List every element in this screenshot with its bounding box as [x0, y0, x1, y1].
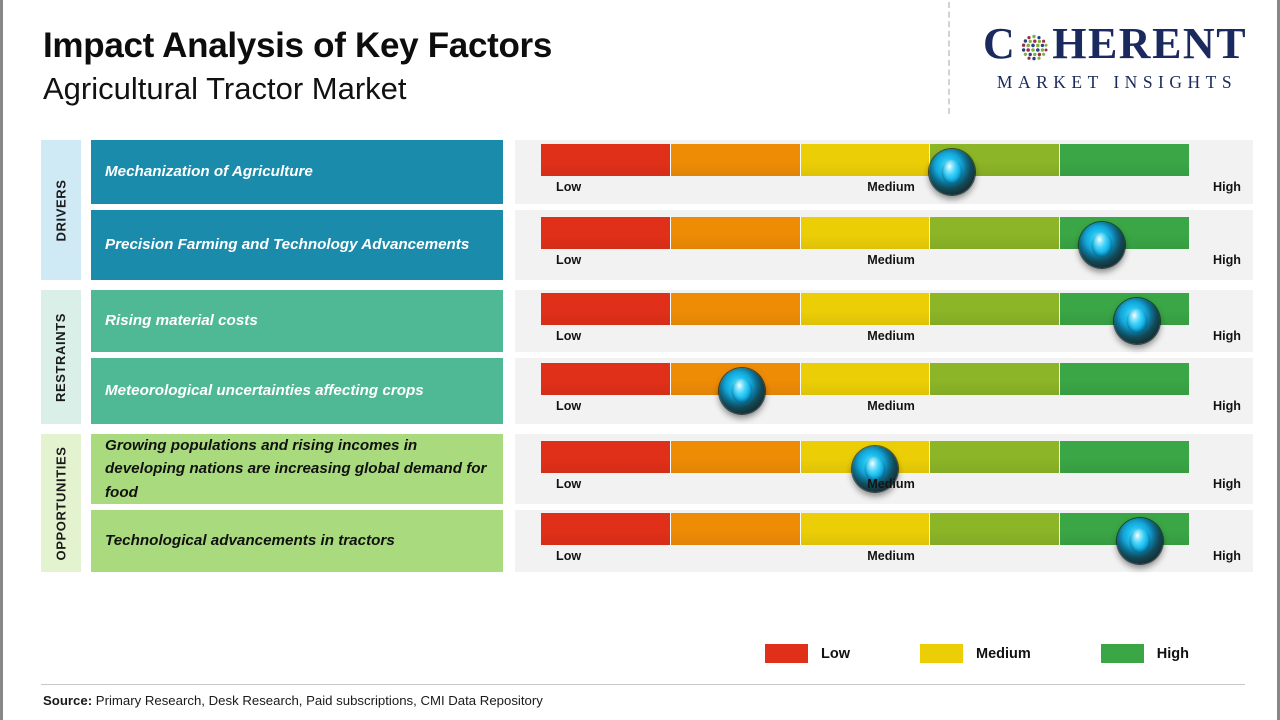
scale-label-medium: Medium — [867, 253, 915, 267]
gauge-segment-4 — [930, 441, 1060, 473]
category-group-drivers: DRIVERSMechanization of AgriculturePreci… — [41, 140, 1253, 280]
legend-swatch — [765, 644, 808, 663]
scale-label-high: High — [1213, 477, 1241, 491]
scale-label-low: Low — [556, 329, 581, 343]
category-group-restraints: RESTRAINTSRising material costsMeteorolo… — [41, 290, 1253, 424]
category-label-restraints: RESTRAINTS — [41, 290, 81, 424]
gauge-segment-3 — [801, 293, 931, 325]
factor-box[interactable]: Precision Farming and Technology Advance… — [91, 210, 503, 280]
category-label-opportunities: OPPORTUNITIES — [41, 434, 81, 572]
scale-label-medium: Medium — [867, 399, 915, 413]
source-text: Primary Research, Desk Research, Paid su… — [92, 693, 543, 708]
scale-label-high: High — [1213, 329, 1241, 343]
scale-label-medium: Medium — [867, 549, 915, 563]
gauge-scale: LowMediumHigh — [541, 399, 1241, 419]
scale-label-high: High — [1213, 549, 1241, 563]
impact-gauge: LowMediumHigh — [515, 434, 1253, 504]
gauge-segment-5 — [1060, 441, 1189, 473]
category-group-opportunities: OPPORTUNITIESGrowing populations and ris… — [41, 434, 1253, 572]
footer-divider — [41, 684, 1245, 685]
gauge-segment-3 — [801, 217, 931, 249]
gauge-scale: LowMediumHigh — [541, 253, 1241, 273]
gauge-scale: LowMediumHigh — [541, 180, 1241, 200]
factor-box[interactable]: Rising material costs — [91, 290, 503, 352]
impact-gauge: LowMediumHigh — [515, 510, 1253, 572]
factor-label: Growing populations and rising incomes i… — [105, 434, 489, 505]
gauge-segment-1 — [541, 513, 671, 545]
gauge-segment-2 — [671, 441, 801, 473]
factor-label: Technological advancements in tractors — [105, 529, 395, 553]
factor-label: Meteorological uncertainties affecting c… — [105, 379, 424, 403]
legend-swatch — [1101, 644, 1144, 663]
impact-gauge: LowMediumHigh — [515, 290, 1253, 352]
gauge-segment-2 — [671, 217, 801, 249]
gauge-segment-1 — [541, 293, 671, 325]
gauge-segment-5 — [1060, 363, 1189, 395]
factor-box-stack: Rising material costsMeteorological unce… — [91, 290, 503, 424]
factor-box[interactable]: Technological advancements in tractors — [91, 510, 503, 572]
page-subtitle: Agricultural Tractor Market — [43, 71, 552, 107]
gauge-segment-1 — [541, 144, 671, 176]
impact-gauge: LowMediumHigh — [515, 210, 1253, 280]
legend-item: Low — [765, 644, 850, 663]
header: Impact Analysis of Key Factors Agricultu… — [3, 0, 1280, 132]
coherent-market-insights-logo: C — [965, 22, 1265, 93]
legend-item: High — [1101, 644, 1189, 663]
legend-label: Low — [821, 646, 850, 662]
factor-box-stack: Growing populations and rising incomes i… — [91, 434, 503, 572]
category-label-drivers: DRIVERS — [41, 140, 81, 280]
legend-swatch — [920, 644, 963, 663]
logo-tagline: MARKET INSIGHTS — [969, 72, 1265, 93]
gauge-scale: LowMediumHigh — [541, 549, 1241, 569]
impact-gauge: LowMediumHigh — [515, 140, 1253, 204]
scale-label-medium: Medium — [867, 180, 915, 194]
gauge-segment-4 — [930, 293, 1060, 325]
scale-label-high: High — [1213, 399, 1241, 413]
legend-label: Medium — [976, 646, 1031, 662]
gauge-bar — [541, 363, 1189, 395]
factor-label: Mechanization of Agriculture — [105, 160, 313, 184]
gauge-bar — [541, 144, 1189, 176]
scale-label-high: High — [1213, 253, 1241, 267]
gauge-segment-2 — [671, 513, 801, 545]
gauge-scale: LowMediumHigh — [541, 329, 1241, 349]
scale-label-low: Low — [556, 180, 581, 194]
scale-label-medium: Medium — [867, 477, 915, 491]
factor-box[interactable]: Growing populations and rising incomes i… — [91, 434, 503, 504]
gauge-segment-3 — [801, 363, 931, 395]
factor-label: Precision Farming and Technology Advance… — [105, 233, 469, 257]
gauge-segment-1 — [541, 363, 671, 395]
category-label-text: DRIVERS — [54, 179, 69, 241]
legend-item: Medium — [920, 644, 1031, 663]
scale-label-low: Low — [556, 399, 581, 413]
scale-label-low: Low — [556, 253, 581, 267]
gauge-scale: LowMediumHigh — [541, 477, 1241, 497]
scale-label-low: Low — [556, 549, 581, 563]
page-title: Impact Analysis of Key Factors — [43, 28, 552, 65]
gauge-segment-1 — [541, 441, 671, 473]
logo-letter-c: C — [983, 22, 1016, 66]
gauge-segment-2 — [671, 144, 801, 176]
source-label: Source: — [43, 693, 92, 708]
gauge-segment-4 — [930, 217, 1060, 249]
gauge-segment-3 — [801, 513, 931, 545]
legend: LowMediumHigh — [765, 644, 1205, 663]
gauge-bar — [541, 513, 1189, 545]
scale-label-low: Low — [556, 477, 581, 491]
legend-label: High — [1157, 646, 1189, 662]
title-block: Impact Analysis of Key Factors Agricultu… — [43, 28, 552, 106]
gauge-stack: LowMediumHighLowMediumHigh — [515, 140, 1253, 280]
logo-wordmark: C — [965, 22, 1265, 66]
factor-box[interactable]: Mechanization of Agriculture — [91, 140, 503, 204]
infographic-page: Impact Analysis of Key Factors Agricultu… — [0, 0, 1280, 720]
gauge-segment-3 — [801, 144, 931, 176]
gauge-segment-2 — [671, 293, 801, 325]
impact-gauge: LowMediumHigh — [515, 358, 1253, 424]
gauge-segment-4 — [930, 513, 1060, 545]
gauge-bar — [541, 293, 1189, 325]
gauge-stack: LowMediumHighLowMediumHigh — [515, 434, 1253, 572]
source-note: Source: Primary Research, Desk Research,… — [43, 693, 543, 708]
logo-letters-herent: HERENT — [1052, 22, 1247, 66]
factor-box[interactable]: Meteorological uncertainties affecting c… — [91, 358, 503, 424]
factor-label: Rising material costs — [105, 309, 258, 333]
gauge-segment-1 — [541, 217, 671, 249]
category-label-text: RESTRAINTS — [54, 312, 69, 401]
gauge-stack: LowMediumHighLowMediumHigh — [515, 290, 1253, 424]
globe-icon — [1017, 29, 1051, 63]
category-label-text: OPPORTUNITIES — [54, 446, 69, 560]
logo-divider — [948, 2, 950, 114]
scale-label-high: High — [1213, 180, 1241, 194]
factor-box-stack: Mechanization of AgriculturePrecision Fa… — [91, 140, 503, 280]
gauge-segment-5 — [1060, 144, 1189, 176]
gauge-segment-4 — [930, 363, 1060, 395]
scale-label-medium: Medium — [867, 329, 915, 343]
